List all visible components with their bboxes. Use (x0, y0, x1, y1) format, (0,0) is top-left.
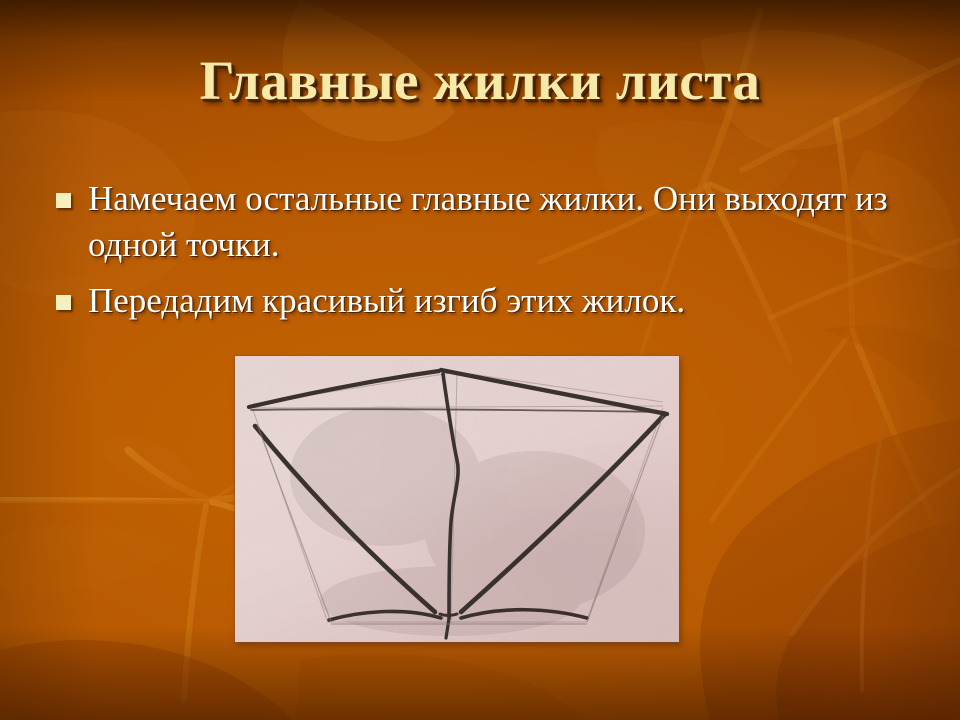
list-item[interactable]: Передадим красивый изгиб этих жилок. (56, 278, 906, 324)
presentation-slide: Главные жилки листа Намечаем остальные г… (0, 0, 960, 720)
square-bullet-icon (56, 193, 71, 208)
leaf-vein-sketch-image[interactable] (235, 356, 679, 642)
bullet-list: Намечаем остальные главные жилки. Они вы… (56, 176, 906, 335)
bullet-text: Намечаем остальные главные жилки. Они вы… (88, 176, 906, 268)
square-bullet-icon (56, 295, 71, 310)
list-item[interactable]: Намечаем остальные главные жилки. Они вы… (56, 176, 906, 268)
bullet-text: Передадим красивый изгиб этих жилок. (88, 278, 906, 324)
slide-title: Главные жилки листа (0, 52, 960, 110)
